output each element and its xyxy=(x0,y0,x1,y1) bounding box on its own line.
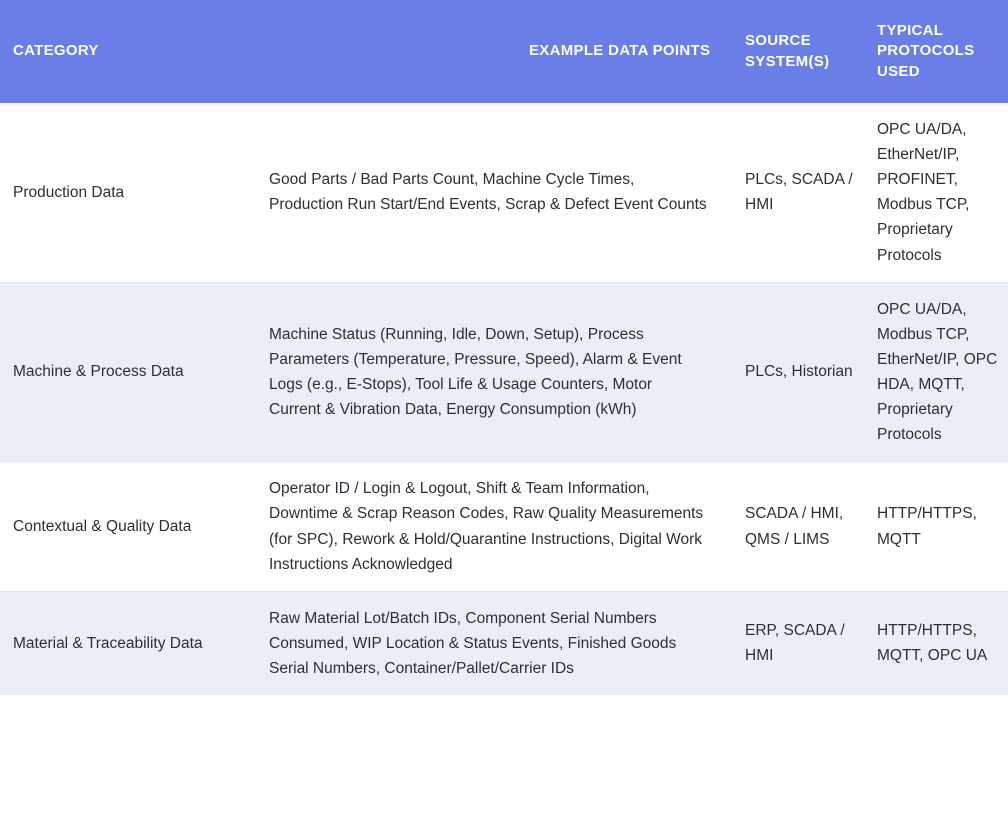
cell-protocols: OPC UA/DA, Modbus TCP, EtherNet/IP, OPC … xyxy=(867,282,1008,462)
table-row: Contextual & Quality Data Operator ID / … xyxy=(0,462,1008,591)
column-header-category: CATEGORY xyxy=(0,0,258,103)
table-row: Production Data Good Parts / Bad Parts C… xyxy=(0,103,1008,282)
cell-source: ERP, SCADA / HMI xyxy=(735,591,867,695)
cell-source: PLCs, SCADA / HMI xyxy=(735,103,867,282)
cell-examples: Good Parts / Bad Parts Count, Machine Cy… xyxy=(258,103,735,282)
cell-source: SCADA / HMI, QMS / LIMS xyxy=(735,462,867,591)
column-header-typical-protocols-used: TYPICAL PROTOCOLS USED xyxy=(867,0,1008,103)
cell-category: Contextual & Quality Data xyxy=(0,462,258,591)
cell-category: Production Data xyxy=(0,103,258,282)
cell-source: PLCs, Historian xyxy=(735,282,867,462)
manufacturing-data-table: CATEGORY EXAMPLE DATA POINTS SOURCE SYST… xyxy=(0,0,1008,695)
cell-category: Material & Traceability Data xyxy=(0,591,258,695)
table-header-row: CATEGORY EXAMPLE DATA POINTS SOURCE SYST… xyxy=(0,0,1008,103)
cell-protocols: HTTP/HTTPS, MQTT, OPC UA xyxy=(867,591,1008,695)
column-header-example-data-points: EXAMPLE DATA POINTS xyxy=(258,0,735,103)
cell-examples: Machine Status (Running, Idle, Down, Set… xyxy=(258,282,735,462)
column-header-source-systems: SOURCE SYSTEM(S) xyxy=(735,0,867,103)
table-header: CATEGORY EXAMPLE DATA POINTS SOURCE SYST… xyxy=(0,0,1008,103)
cell-examples: Raw Material Lot/Batch IDs, Component Se… xyxy=(258,591,735,695)
cell-category: Machine & Process Data xyxy=(0,282,258,462)
table-row: Machine & Process Data Machine Status (R… xyxy=(0,282,1008,462)
cell-protocols: HTTP/HTTPS, MQTT xyxy=(867,462,1008,591)
table-body: Production Data Good Parts / Bad Parts C… xyxy=(0,103,1008,695)
cell-examples: Operator ID / Login & Logout, Shift & Te… xyxy=(258,462,735,591)
table-container: CATEGORY EXAMPLE DATA POINTS SOURCE SYST… xyxy=(0,0,1008,828)
table-row: Material & Traceability Data Raw Materia… xyxy=(0,591,1008,695)
cell-protocols: OPC UA/DA, EtherNet/IP, PROFINET, Modbus… xyxy=(867,103,1008,282)
